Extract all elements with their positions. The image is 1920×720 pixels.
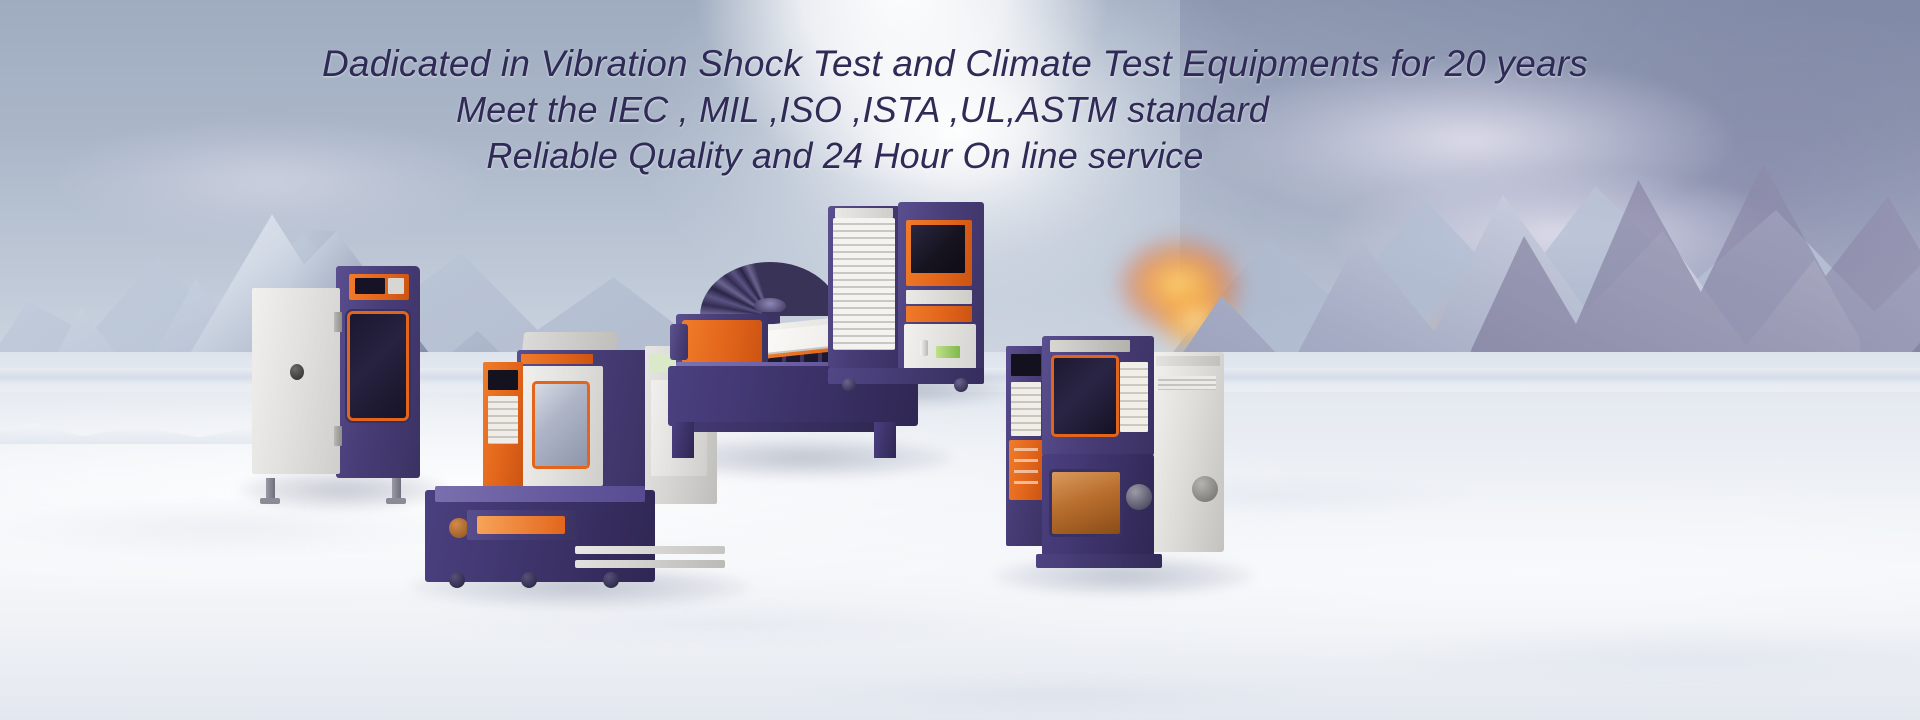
headline-block: Dadicated in Vibration Shock Test and Cl… (0, 40, 1920, 180)
support-leg (266, 478, 275, 500)
equipment-three-comprehensive-vibration-climatic-test-system (1006, 336, 1241, 576)
chamber-door (252, 288, 340, 474)
shaker-armature-window (1052, 472, 1120, 534)
display-screen (911, 225, 965, 273)
caster-wheel (521, 572, 537, 588)
display-screen (1011, 354, 1041, 376)
support-leg (392, 478, 401, 500)
system-base (1036, 554, 1162, 568)
display-screen (355, 278, 385, 294)
plinth-leg (874, 422, 896, 458)
side-cabinet-top (1156, 356, 1220, 366)
cabinet-label (835, 208, 893, 218)
side-button-array (1120, 362, 1148, 432)
shaker-end-cap (670, 324, 688, 360)
headline-line-3: Reliable Quality and 24 Hour On line ser… (0, 133, 1920, 179)
button-array (488, 396, 518, 444)
cabinet-nameplate (936, 346, 960, 358)
viewing-window (350, 314, 406, 418)
door-hinge (334, 426, 342, 446)
access-port (1126, 484, 1152, 510)
plinth-leg (672, 422, 694, 458)
shaker-housing (682, 320, 762, 364)
equipment-vibration-controller-power-amplifier-cabinet (828, 206, 1008, 396)
door-handle (920, 340, 928, 356)
viewing-window (535, 384, 587, 466)
leveling-foot (386, 498, 406, 504)
indicator-panel (906, 290, 972, 304)
headline-line-2: Meet the IEC , MIL ,ISO ,ISTA ,UL,ASTM s… (0, 87, 1920, 133)
side-cabinet-port (1192, 476, 1218, 502)
plinth-base-bar (672, 422, 896, 432)
headline-line-1: Dadicated in Vibration Shock Test and Cl… (0, 40, 1920, 87)
chamber-top-trim (1050, 340, 1130, 352)
shaker-armature (477, 516, 565, 534)
door-port (290, 364, 304, 380)
ventilation-grille (833, 218, 895, 350)
indicator-lights (1014, 448, 1038, 492)
actuator-port (449, 518, 469, 538)
equipment-temperature-humidity-test-chamber (252, 266, 420, 496)
leveling-foot (260, 498, 280, 504)
fork-rail (575, 560, 725, 568)
base-slab (435, 486, 645, 502)
button-array (1011, 382, 1041, 436)
display-screen (488, 370, 518, 390)
caster-wheel (449, 572, 465, 588)
caster-wheel (842, 378, 856, 392)
door-hinge (334, 312, 342, 332)
ventilation-grille (1158, 376, 1216, 390)
viewing-window (1054, 358, 1116, 434)
control-strip (521, 354, 593, 364)
caster-wheel (954, 378, 968, 392)
keypad (388, 278, 404, 294)
button-panel (906, 306, 972, 322)
fork-rail (575, 546, 725, 554)
caster-wheel (603, 572, 619, 588)
hero-banner: Dadicated in Vibration Shock Test and Cl… (0, 0, 1920, 720)
